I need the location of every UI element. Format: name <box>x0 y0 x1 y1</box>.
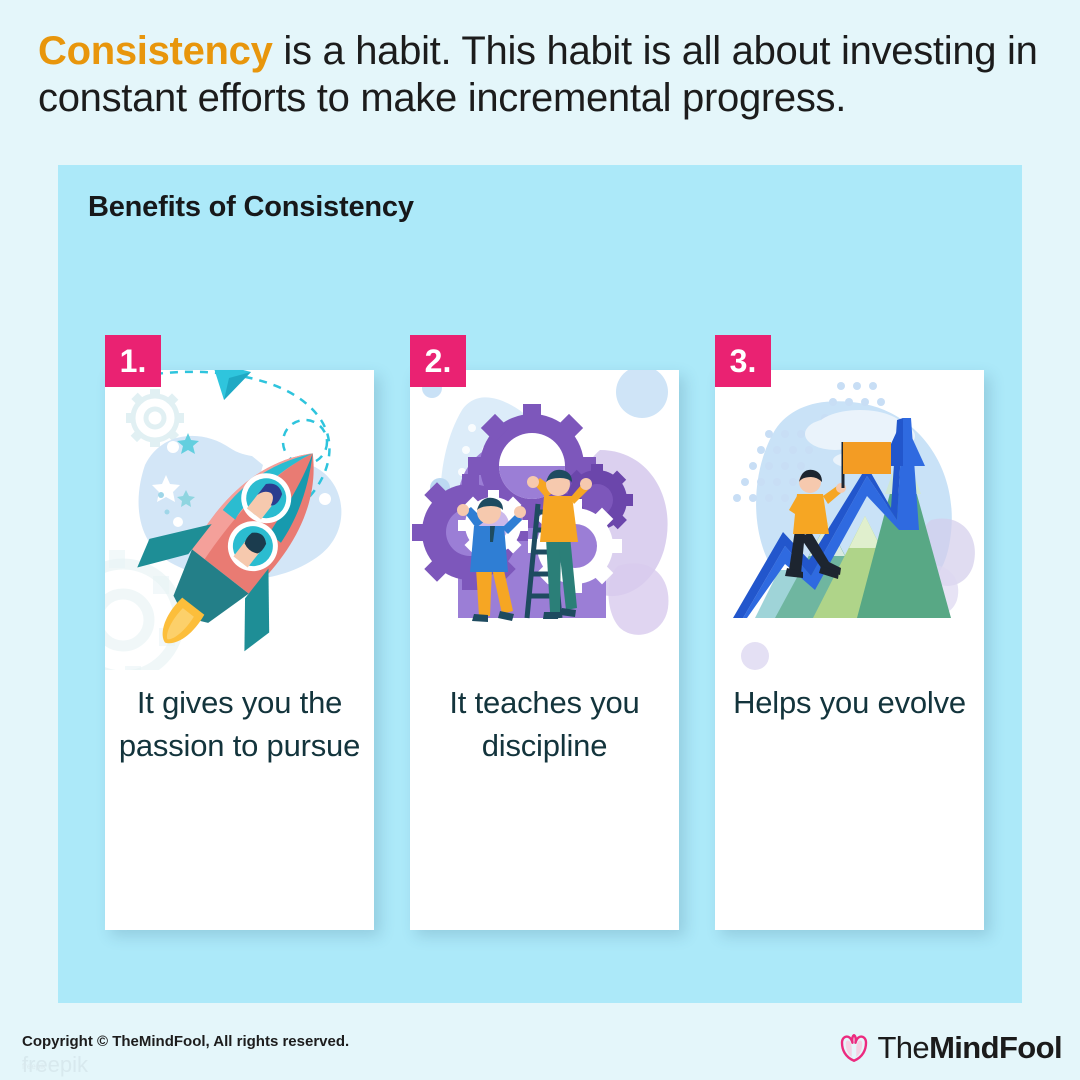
benefits-panel: Benefits of Consistency <box>58 165 1022 1003</box>
panel-title: Benefits of Consistency <box>88 191 414 224</box>
rocket-launch-illustration <box>105 370 374 670</box>
benefit-card-3-badge: 3. <box>715 335 771 387</box>
freepik-watermark-small: freepik <box>22 1062 46 1071</box>
benefit-card-2-caption: It teaches you discipline <box>420 682 669 768</box>
freepik-watermark: freepik freepik <box>22 1052 88 1078</box>
benefit-card-1-badge: 1. <box>105 335 161 387</box>
benefit-card-3[interactable]: Helps you evolve <box>715 370 984 930</box>
gears-teamwork-illustration <box>410 370 679 670</box>
benefit-card-2-badge: 2. <box>410 335 466 387</box>
benefit-card-1[interactable]: It gives you the passion to pursue <box>105 370 374 930</box>
brand-text-bold: MindFool <box>929 1030 1062 1065</box>
brand-text-light: The <box>877 1030 929 1065</box>
page-headline: Consistency is a habit. This habit is al… <box>38 28 1058 122</box>
tulip-flower-icon <box>839 1033 869 1063</box>
brand-logo[interactable]: TheMindFool <box>839 1030 1062 1066</box>
benefit-card-3-caption: Helps you evolve <box>725 682 974 725</box>
brand-text: TheMindFool <box>877 1030 1062 1066</box>
mountain-growth-arrow-illustration <box>715 370 984 670</box>
copyright-text: Copyright © TheMindFool, All rights rese… <box>22 1033 349 1050</box>
benefit-card-1-caption: It gives you the passion to pursue <box>115 682 364 768</box>
benefit-cards-row: It gives you the passion to pursue <box>105 335 985 935</box>
benefit-card-2[interactable]: It teaches you discipline <box>410 370 679 930</box>
headline-accent-word: Consistency <box>38 29 273 73</box>
